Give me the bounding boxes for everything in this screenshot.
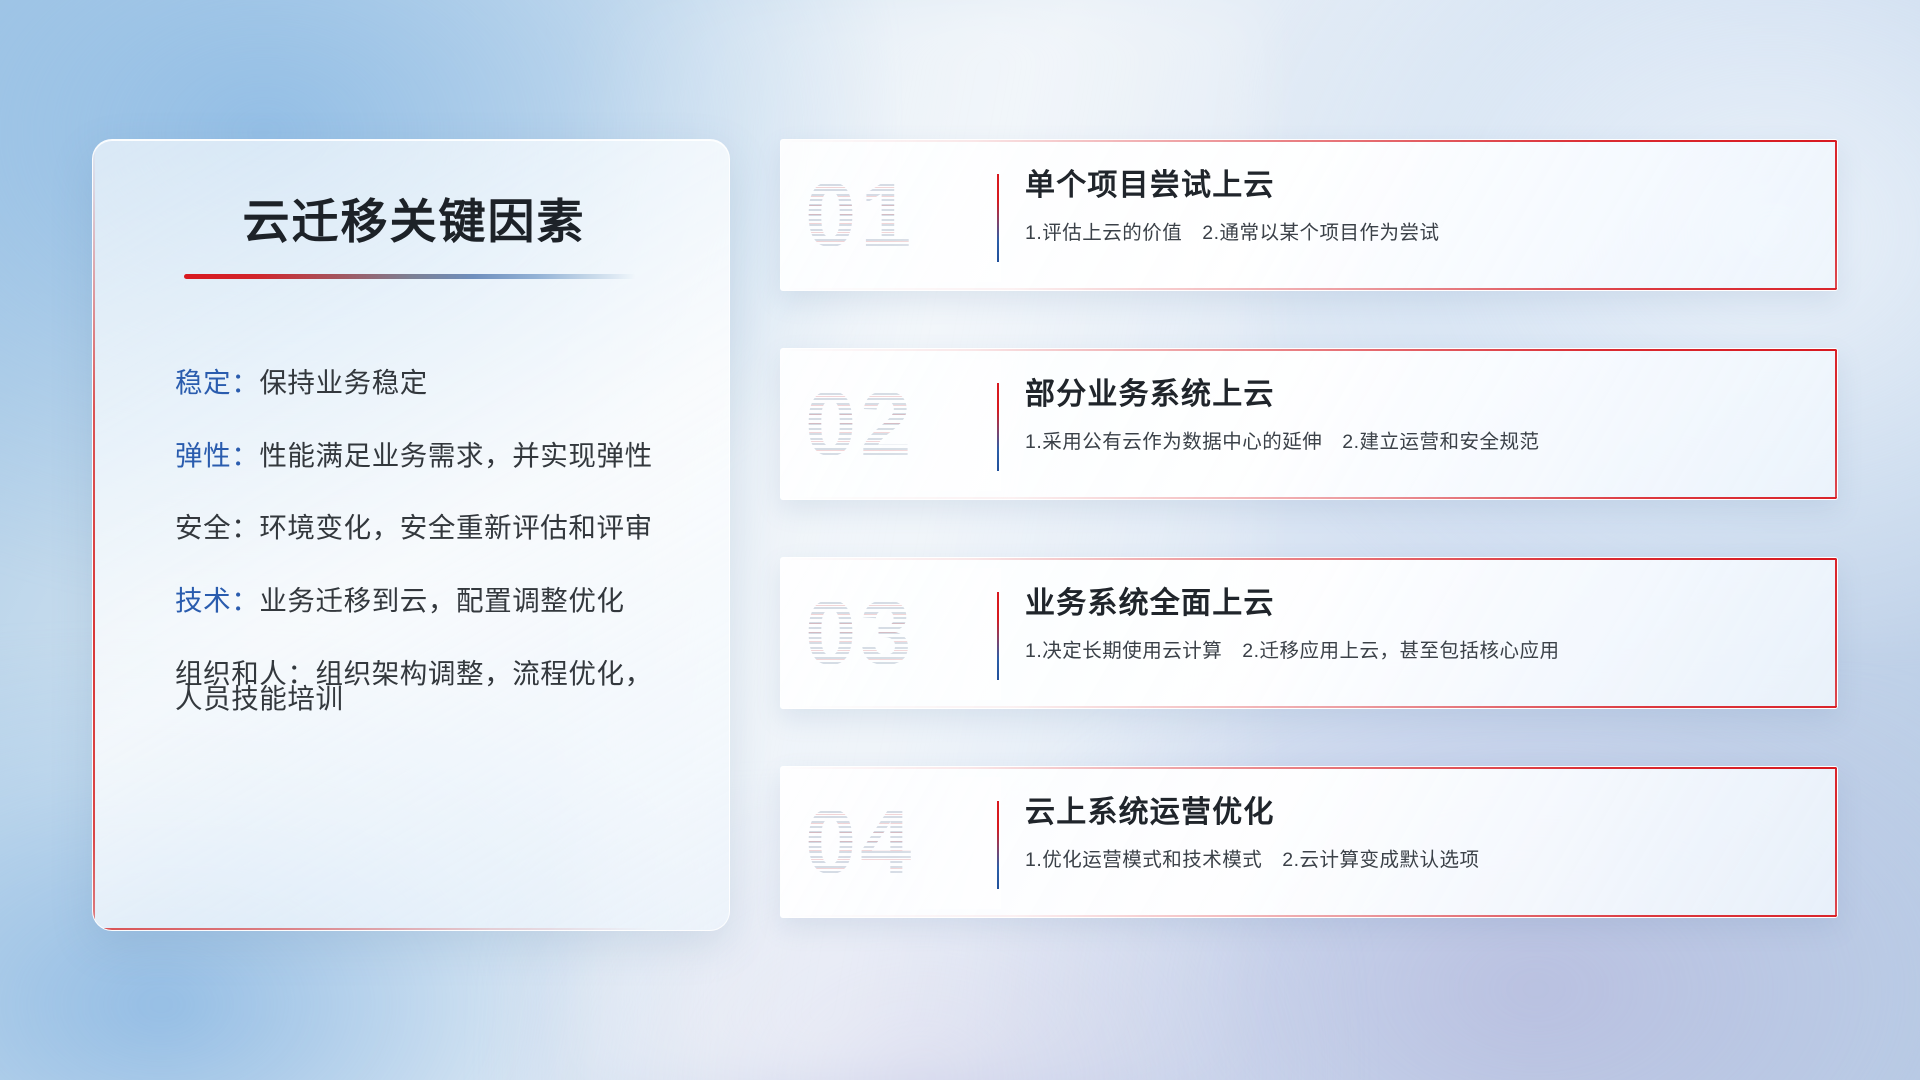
- slide-content: 云迁移关键因素 稳定：保持业务稳定 弹性：性能满足业务需求，并实现弹性 安全：环…: [0, 0, 1920, 1080]
- step-title-01: 单个项目尝试上云: [1025, 168, 1807, 204]
- step-description-02: 1.采用公有云作为数据中心的延伸 2.建立运营和安全规范: [1025, 430, 1807, 455]
- factor-value-elasticity: 性能满足业务需求，并实现弹性: [259, 440, 652, 471]
- factor-value-technology: 业务迁移到云，配置调整优化: [259, 585, 624, 616]
- card-bottom-accent: [781, 915, 1837, 917]
- step-text-block-03: 业务系统全面上云 1.决定长期使用云计算 2.迁移应用上云，甚至包括核心应用: [1025, 586, 1807, 664]
- step-text-block-02: 部分业务系统上云 1.采用公有云作为数据中心的延伸 2.建立运营和安全规范: [1025, 377, 1807, 455]
- step-description-01: 1.评估上云的价值 2.通常以某个项目作为尝试: [1025, 221, 1807, 246]
- factor-label-stability: 稳定：: [175, 367, 259, 398]
- factor-item-organization: 组织和人：组织架构调整，流程优化， 人员技能培训: [175, 656, 675, 718]
- key-factors-panel-body: 云迁移关键因素 稳定：保持业务稳定 弹性：性能满足业务需求，并实现弹性 安全：环…: [93, 140, 729, 930]
- step-number-watermark-04: 04: [805, 796, 915, 888]
- step-divider-bar-03: [997, 592, 999, 680]
- card-top-accent: [781, 767, 1837, 769]
- factor-value-security: 环境变化，安全重新评估和评审: [259, 512, 652, 543]
- factor-label-technology: 技术：: [175, 585, 259, 616]
- step-title-04: 云上系统运营优化: [1025, 795, 1807, 831]
- migration-steps-list: 01 01 单个项目尝试上云 1.评估上云的价值 2.通常以某个项目作为尝试 0…: [780, 139, 1838, 918]
- step-number-watermark-01: 01: [805, 169, 915, 261]
- step-divider-bar-01: [997, 174, 999, 262]
- step-card-01[interactable]: 01 01 单个项目尝试上云 1.评估上云的价值 2.通常以某个项目作为尝试: [780, 139, 1838, 291]
- factor-label-elasticity: 弹性：: [175, 440, 259, 471]
- card-bottom-accent: [781, 706, 1837, 708]
- step-description-04: 1.优化运营模式和技术模式 2.云计算变成默认选项: [1025, 848, 1807, 873]
- card-bottom-accent: [781, 497, 1837, 499]
- factor-label-security: 安全：: [175, 512, 259, 543]
- page-title: 云迁移关键因素: [145, 196, 675, 248]
- step-card-04[interactable]: 04 04 云上系统运营优化 1.优化运营模式和技术模式 2.云计算变成默认选项: [780, 766, 1838, 918]
- factor-item-technology: 技术：业务迁移到云，配置调整优化: [175, 583, 675, 620]
- key-factors-panel: 云迁移关键因素 稳定：保持业务稳定 弹性：性能满足业务需求，并实现弹性 安全：环…: [92, 139, 730, 931]
- step-card-03[interactable]: 03 03 业务系统全面上云 1.决定长期使用云计算 2.迁移应用上云，甚至包括…: [780, 557, 1838, 709]
- card-right-accent: [1835, 558, 1837, 708]
- card-top-accent: [781, 349, 1837, 351]
- card-top-accent: [781, 140, 1837, 142]
- step-divider-bar-02: [997, 383, 999, 471]
- card-bottom-accent: [781, 288, 1837, 290]
- step-text-block-01: 单个项目尝试上云 1.评估上云的价值 2.通常以某个项目作为尝试: [1025, 168, 1807, 246]
- factor-item-stability: 稳定：保持业务稳定: [175, 365, 675, 402]
- step-number-watermark-02: 02: [805, 378, 915, 470]
- card-right-accent: [1835, 349, 1837, 499]
- card-right-accent: [1835, 767, 1837, 917]
- factor-item-elasticity: 弹性：性能满足业务需求，并实现弹性: [175, 438, 675, 475]
- title-underline-gradient: [184, 274, 636, 279]
- step-text-block-04: 云上系统运营优化 1.优化运营模式和技术模式 2.云计算变成默认选项: [1025, 795, 1807, 873]
- step-card-02[interactable]: 02 02 部分业务系统上云 1.采用公有云作为数据中心的延伸 2.建立运营和安…: [780, 348, 1838, 500]
- step-number-watermark-03: 03: [805, 587, 915, 679]
- card-top-accent: [781, 558, 1837, 560]
- factor-value-stability: 保持业务稳定: [259, 367, 428, 398]
- factor-item-security: 安全：环境变化，安全重新评估和评审: [175, 510, 675, 547]
- factor-value-organization: 组织架构调整，流程优化，: [316, 658, 653, 689]
- step-divider-bar-04: [997, 801, 999, 889]
- factor-list: 稳定：保持业务稳定 弹性：性能满足业务需求，并实现弹性 安全：环境变化，安全重新…: [145, 365, 675, 718]
- step-title-02: 部分业务系统上云: [1025, 377, 1807, 413]
- step-title-03: 业务系统全面上云: [1025, 586, 1807, 622]
- step-description-03: 1.决定长期使用云计算 2.迁移应用上云，甚至包括核心应用: [1025, 639, 1807, 664]
- card-right-accent: [1835, 140, 1837, 290]
